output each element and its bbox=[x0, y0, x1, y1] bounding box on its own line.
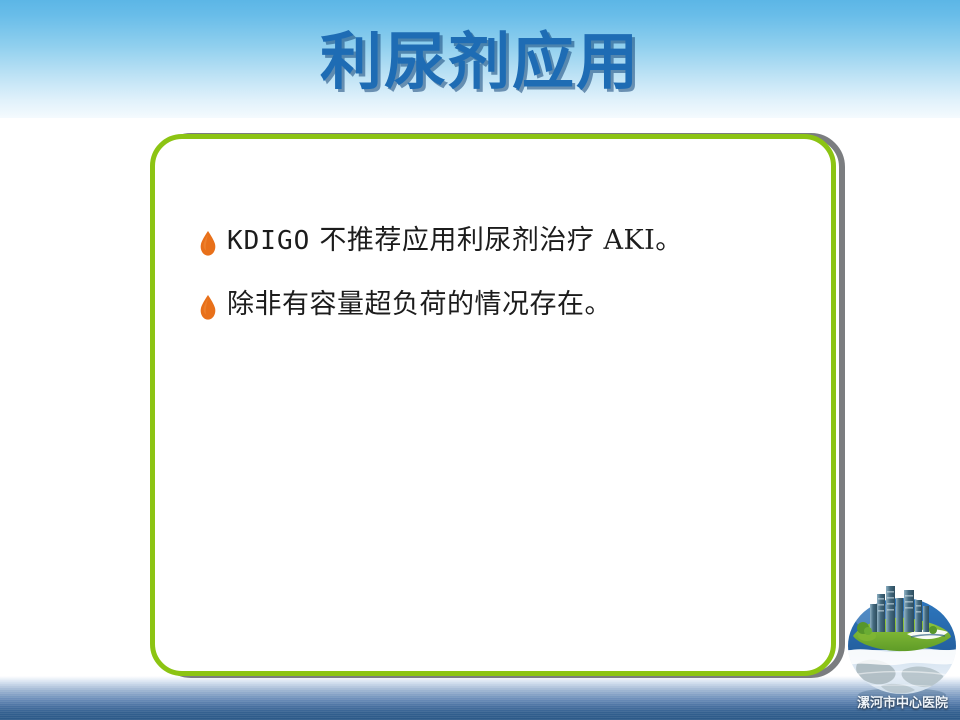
list-item: KDIGO 不推荐应用利尿剂治疗 AKI。 bbox=[199, 223, 805, 259]
bullet-list: KDIGO 不推荐应用利尿剂治疗 AKI。 除非有容量超负荷的情况存在。 bbox=[199, 223, 805, 352]
globe-city-logo-icon bbox=[845, 578, 960, 703]
list-item-latin-lead: KDIGO bbox=[227, 226, 310, 256]
content-box: KDIGO 不推荐应用利尿剂治疗 AKI。 除非有容量超负荷的情况存在。 bbox=[150, 128, 838, 680]
list-item-cjk-text: 除非有容量超负荷的情况存在。 bbox=[227, 289, 612, 320]
list-item: 除非有容量超负荷的情况存在。 bbox=[199, 287, 805, 323]
list-item-label: 除非有容量超负荷的情况存在。 bbox=[227, 287, 612, 323]
list-item-label: KDIGO 不推荐应用利尿剂治疗 AKI。 bbox=[227, 223, 683, 259]
list-item-cjk-text: 不推荐应用利尿剂治疗 AKI。 bbox=[310, 225, 683, 256]
content-box-border: KDIGO 不推荐应用利尿剂治疗 AKI。 除非有容量超负荷的情况存在。 bbox=[150, 134, 836, 676]
water-gradient-footer bbox=[0, 676, 960, 720]
hospital-logo: 漯河市中心医院 bbox=[845, 578, 960, 720]
page-title: 利尿剂应用 bbox=[0, 28, 960, 96]
hospital-name-label: 漯河市中心医院 bbox=[845, 692, 960, 711]
water-drop-icon bbox=[199, 231, 217, 257]
slide-canvas: 利尿剂应用 KDIGO 不推荐应用利尿剂治疗 AKI。 bbox=[0, 0, 960, 720]
water-drop-icon bbox=[199, 295, 217, 321]
